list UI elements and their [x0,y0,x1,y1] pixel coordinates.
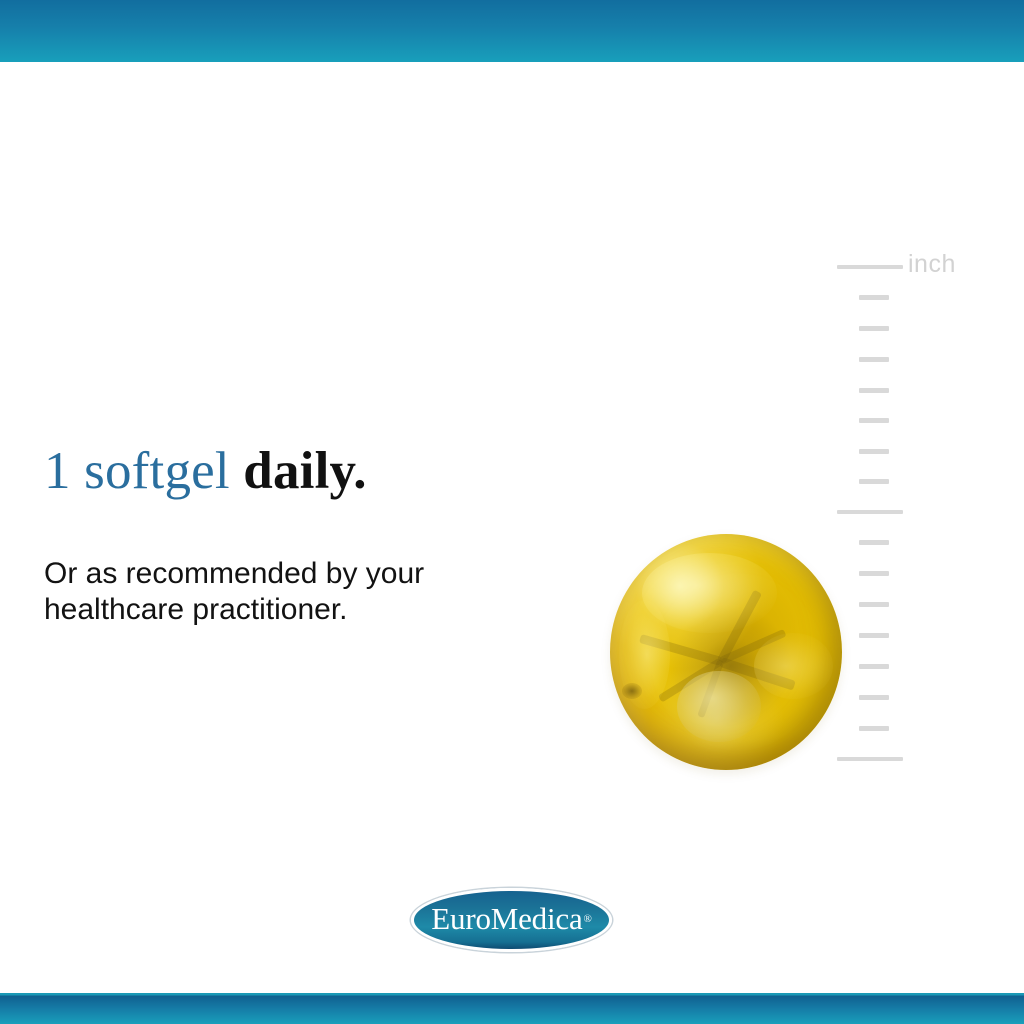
softgel-highlight [754,633,833,699]
headline-strong-text: daily. [230,442,367,500]
ruler-minor-tick [859,357,889,362]
product-image-softgel [610,534,842,770]
page-title: 1 softgel daily. [44,440,367,502]
ad-canvas: 1 softgel daily. Or as recommended by yo… [0,0,1024,1024]
ruler-minor-tick [859,449,889,454]
softgel-capsule [610,534,842,770]
ruler-minor-tick [859,418,889,423]
ruler-minor-tick [859,633,889,638]
bottom-brand-bar [0,993,1024,1024]
top-brand-bar [0,0,1024,62]
ruler-minor-tick [859,326,889,331]
ruler-minor-tick [859,726,889,731]
softgel-highlight [642,553,777,633]
ruler-minor-tick [859,479,889,484]
ruler-minor-tick [859,388,889,393]
softgel-swirl [697,659,724,718]
subtitle-text: Or as recommended by your healthcare pra… [44,556,514,628]
ruler-minor-tick [859,571,889,576]
logo-wordmark: EuroMedica® [411,888,612,952]
softgel-swirl [720,657,796,690]
ruler-minor-tick [859,540,889,545]
ruler-major-tick [837,757,903,761]
softgel-inner-bubble [677,671,761,742]
inch-ruler-scale: inch [834,255,994,775]
softgel-swirl [658,657,723,702]
ruler-minor-tick [859,602,889,607]
ruler-major-tick [837,510,903,514]
softgel-swirl [720,629,787,665]
softgel-highlight [619,600,670,709]
ruler-unit-label: inch [908,252,956,277]
ruler-major-tick [837,265,903,269]
headline-accent-text: 1 softgel [44,442,230,500]
logo-brand-name: EuroMedica [431,901,582,937]
softgel-shadow-spot [622,683,643,700]
ruler-minor-tick [859,695,889,700]
registered-trademark-icon: ® [584,913,592,925]
softgel-swirl [717,589,762,663]
subtitle-line-1: Or as recommended by your [44,556,514,592]
ruler-minor-tick [859,664,889,669]
ruler-minor-tick [859,295,889,300]
softgel-swirl [640,634,723,666]
euromedica-logo[interactable]: EuroMedica® [411,888,612,952]
subtitle-line-2: healthcare practitioner. [44,592,514,628]
